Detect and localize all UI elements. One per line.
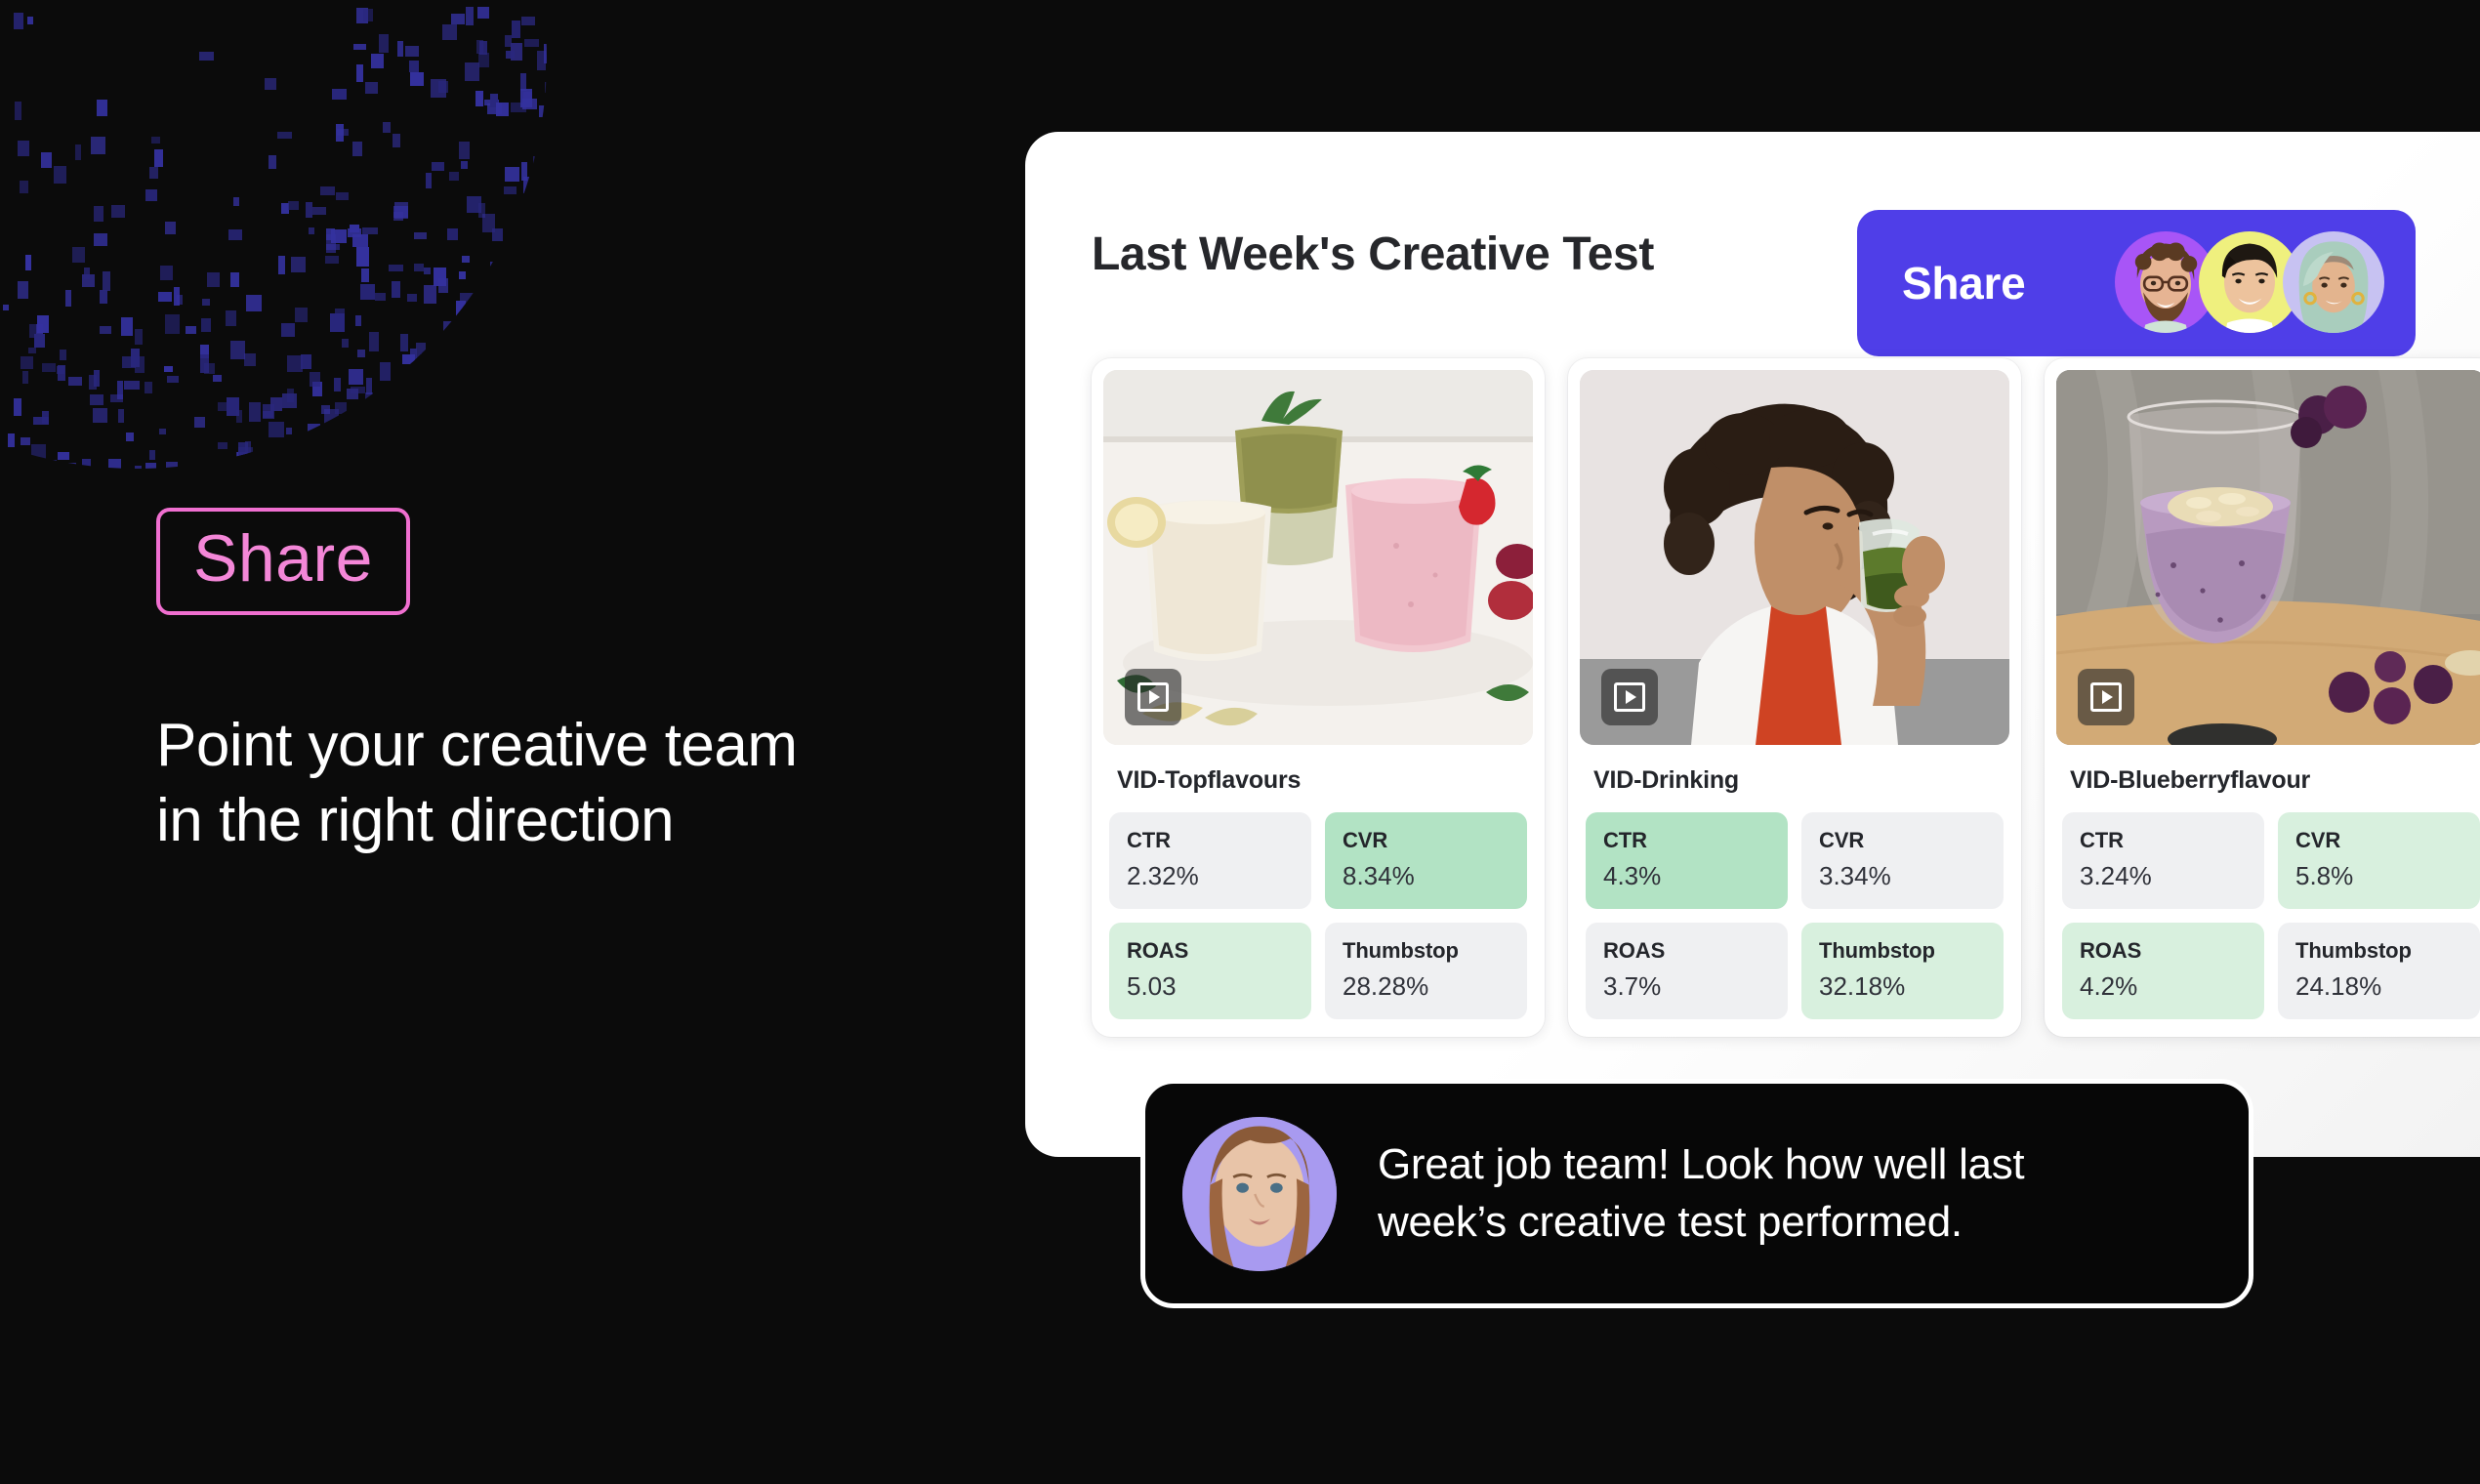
play-icon-triangle	[2102, 690, 2113, 704]
metrics-grid: CTR 4.3% CVR 3.34% ROAS 3.7% Thumbstop 3…	[1580, 812, 2009, 1019]
play-icon-frame	[1137, 682, 1169, 712]
play-icon[interactable]	[1125, 669, 1181, 725]
share-avatar-stack	[2115, 231, 2384, 333]
play-icon[interactable]	[1601, 669, 1658, 725]
metric-tile-cvr[interactable]: CVR 8.34%	[1325, 812, 1527, 909]
panel-header: Last Week's Creative Test Share	[1092, 190, 2460, 337]
page-title: Last Week's Creative Test	[1092, 227, 1654, 281]
avatar	[1182, 1117, 1337, 1271]
pixel-dissolve-decoration	[0, 0, 683, 508]
share-badge: Share	[156, 508, 410, 615]
metric-label: Thumbstop	[2295, 938, 2462, 964]
app-panel: Last Week's Creative Test Share	[1025, 132, 2480, 1157]
headline-line-2: in the right direction	[156, 784, 976, 859]
creative-card[interactable]: VID-Drinking CTR 4.3% CVR 3.34% ROAS 3.7…	[1568, 358, 2021, 1037]
play-icon-triangle	[1149, 690, 1160, 704]
metric-tile-roas[interactable]: ROAS 4.2%	[2062, 923, 2264, 1019]
metric-tile-roas[interactable]: ROAS 3.7%	[1586, 923, 1788, 1019]
metric-tile-cvr[interactable]: CVR 5.8%	[2278, 812, 2480, 909]
avatar-woman-headscarf[interactable]	[2283, 231, 2384, 333]
metric-label: Thumbstop	[1819, 938, 1986, 964]
metric-value: 3.34%	[1819, 861, 1986, 891]
avatar-woman-headscarf-illustration	[2283, 231, 2384, 333]
metric-tile-ctr[interactable]: CTR 3.24%	[2062, 812, 2264, 909]
metric-value: 5.03	[1127, 971, 1294, 1002]
metric-value: 4.3%	[1603, 861, 1770, 891]
metric-label: CTR	[1603, 828, 1770, 853]
metric-tile-roas[interactable]: ROAS 5.03	[1109, 923, 1311, 1019]
comment-bubble: Great job team! Look how well last week’…	[1140, 1079, 2253, 1308]
metric-value: 3.7%	[1603, 971, 1770, 1002]
metric-value: 8.34%	[1343, 861, 1509, 891]
creative-card[interactable]: VID-Topflavours CTR 2.32% CVR 8.34% ROAS…	[1092, 358, 1545, 1037]
metric-value: 5.8%	[2295, 861, 2462, 891]
metric-value: 3.24%	[2080, 861, 2247, 891]
headline-line-1: Point your creative team	[156, 709, 976, 784]
metrics-grid: CTR 3.24% CVR 5.8% ROAS 4.2% Thumbstop 2…	[2056, 812, 2480, 1019]
share-button[interactable]: Share	[1857, 210, 2416, 356]
metric-tile-thumbstop[interactable]: Thumbstop 28.28%	[1325, 923, 1527, 1019]
metric-label: ROAS	[1127, 938, 1294, 964]
metric-label: ROAS	[2080, 938, 2247, 964]
metric-label: ROAS	[1603, 938, 1770, 964]
metric-tile-thumbstop[interactable]: Thumbstop 24.18%	[2278, 923, 2480, 1019]
play-icon[interactable]	[2078, 669, 2134, 725]
creative-name: VID-Blueberryflavour	[2070, 766, 2480, 795]
comment-text: Great job team! Look how well last week’…	[1378, 1136, 2024, 1251]
creative-cards-row: VID-Topflavours CTR 2.32% CVR 8.34% ROAS…	[1092, 358, 2480, 1037]
left-content-column: Share Point your creative team in the ri…	[156, 508, 976, 859]
metric-value: 4.2%	[2080, 971, 2247, 1002]
card-thumbnail[interactable]	[1580, 370, 2009, 745]
promo-graphic: Share Point your creative team in the ri…	[0, 0, 2480, 1484]
metric-label: CVR	[1819, 828, 1986, 853]
metric-value: 28.28%	[1343, 971, 1509, 1002]
creative-name: VID-Drinking	[1593, 766, 2009, 795]
commenter-face-illustration	[1182, 1117, 1337, 1271]
card-thumbnail[interactable]	[1103, 370, 1533, 745]
share-badge-label: Share	[193, 521, 373, 596]
metric-tile-ctr[interactable]: CTR 4.3%	[1586, 812, 1788, 909]
metric-value: 2.32%	[1127, 861, 1294, 891]
play-icon-frame	[1614, 682, 1645, 712]
metric-label: CTR	[1127, 828, 1294, 853]
metric-label: Thumbstop	[1343, 938, 1509, 964]
metric-tile-thumbstop[interactable]: Thumbstop 32.18%	[1801, 923, 2004, 1019]
metric-label: CTR	[2080, 828, 2247, 853]
play-icon-triangle	[1626, 690, 1636, 704]
metric-value: 24.18%	[2295, 971, 2462, 1002]
share-button-label: Share	[1902, 257, 2025, 309]
metrics-grid: CTR 2.32% CVR 8.34% ROAS 5.03 Thumbstop …	[1103, 812, 1533, 1019]
metric-value: 32.18%	[1819, 971, 1986, 1002]
metric-tile-cvr[interactable]: CVR 3.34%	[1801, 812, 2004, 909]
metric-tile-ctr[interactable]: CTR 2.32%	[1109, 812, 1311, 909]
card-thumbnail[interactable]	[2056, 370, 2480, 745]
metric-label: CVR	[2295, 828, 2462, 853]
creative-name: VID-Topflavours	[1117, 766, 1533, 795]
creative-card[interactable]: VID-Blueberryflavour CTR 3.24% CVR 5.8% …	[2045, 358, 2480, 1037]
metric-label: CVR	[1343, 828, 1509, 853]
page-headline: Point your creative team in the right di…	[156, 709, 976, 859]
comment-line-1: Great job team! Look how well last	[1378, 1136, 2024, 1194]
comment-line-2: week’s creative test performed.	[1378, 1194, 2024, 1252]
play-icon-frame	[2090, 682, 2122, 712]
